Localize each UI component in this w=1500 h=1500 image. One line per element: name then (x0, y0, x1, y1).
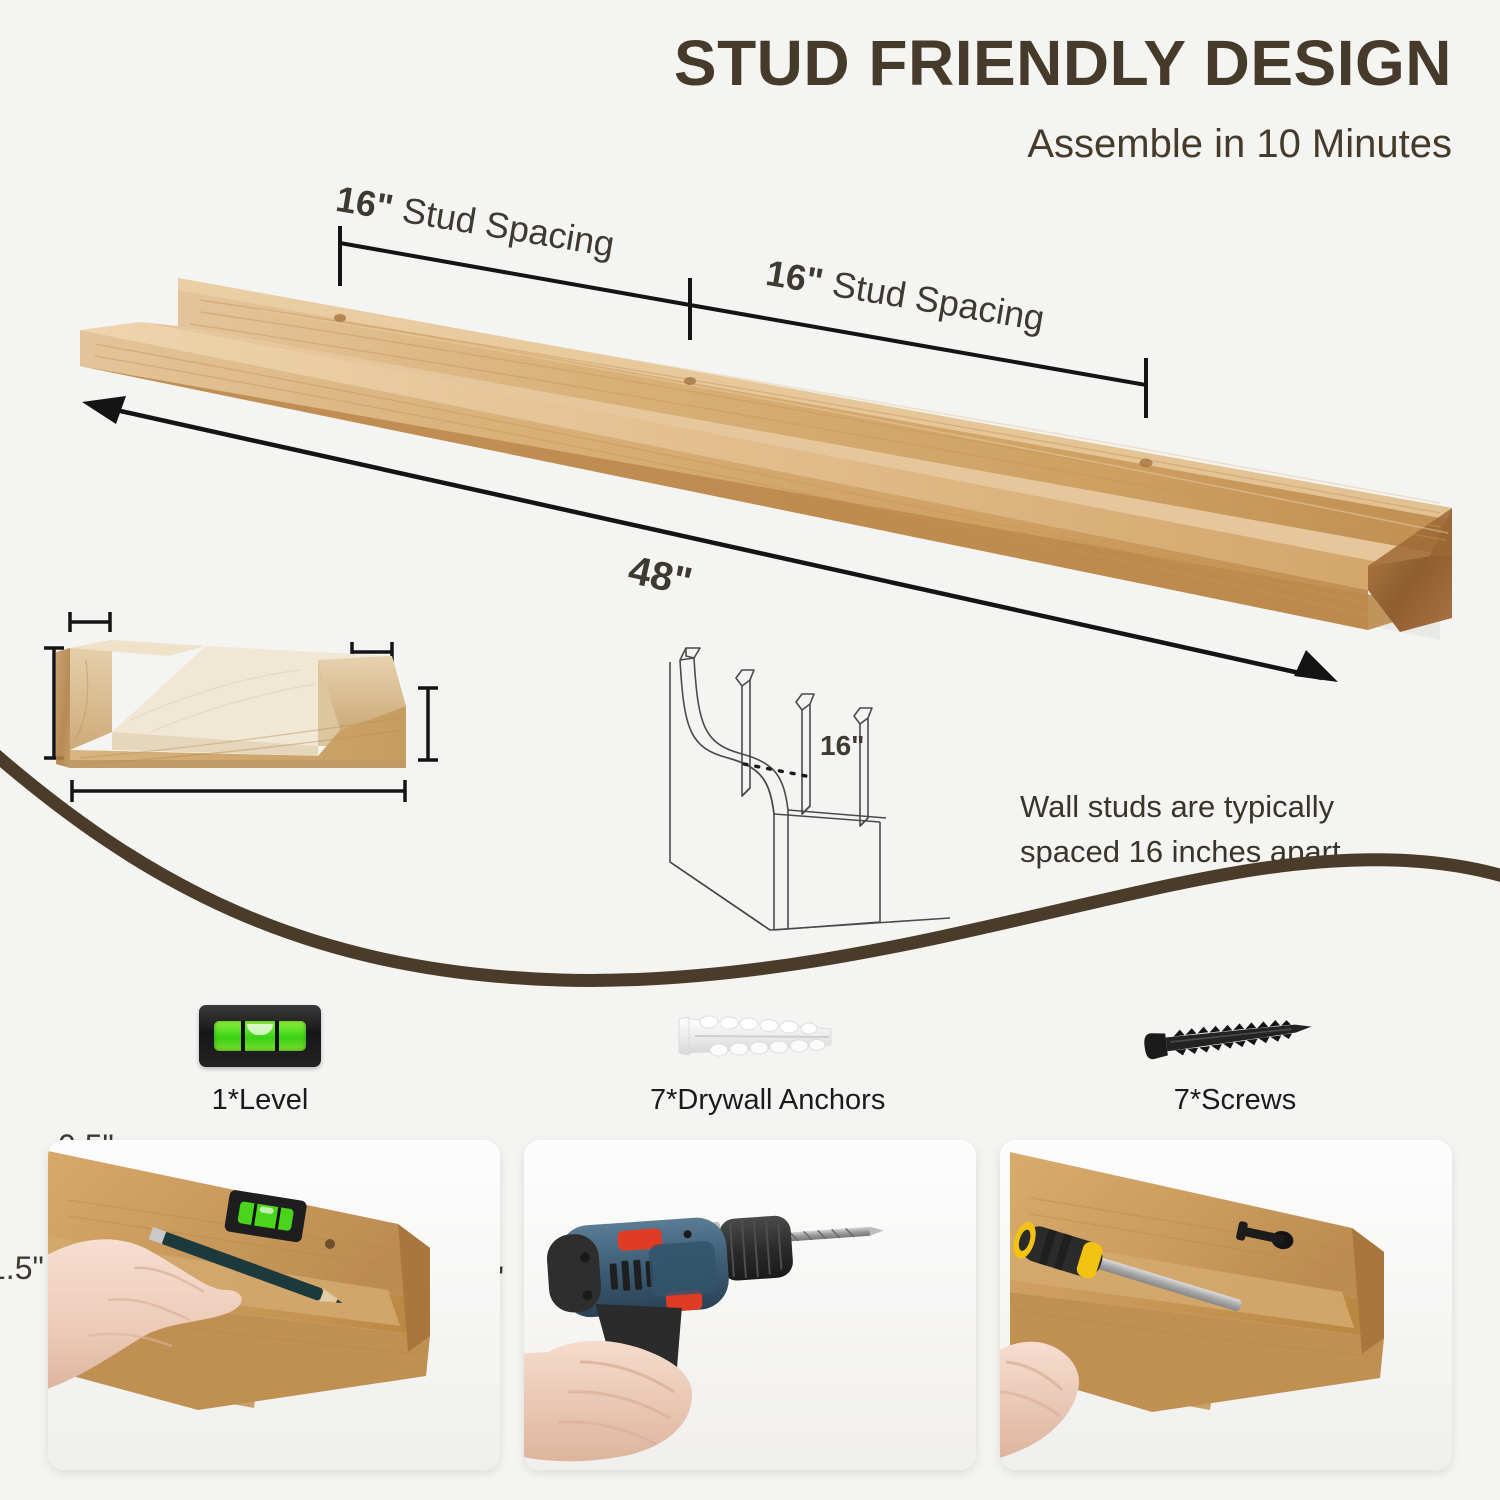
hardware-label-screws: 7*Screws (1140, 1084, 1330, 1117)
screw-icon (1140, 1000, 1330, 1072)
infographic-root: STUD FRIENDLY DESIGN Assemble in 10 Minu… (0, 0, 1500, 1500)
stud-spacing-value-left: 16" (333, 178, 396, 228)
bubble-level-icon (160, 1000, 360, 1072)
stud-spacing-value-right: 16" (763, 252, 826, 302)
photo-card-screw (1000, 1140, 1452, 1470)
step-mark-with-pencil (48, 1140, 500, 1470)
hardware-label-anchors: 7*Drywall Anchors (650, 1084, 870, 1117)
photo-card-drill (524, 1140, 976, 1470)
step-drive-screw (1000, 1140, 1452, 1470)
screw-glyph (1140, 1001, 1330, 1071)
swoosh-curve (0, 740, 1500, 1020)
anchor-glyph (665, 1001, 855, 1071)
hardware-item-level: 1*Level (160, 1000, 360, 1117)
hardware-item-screws: 7*Screws (1140, 1000, 1330, 1117)
hardware-list: 1*Level (0, 1000, 1500, 1125)
step-drill-hole (524, 1140, 976, 1470)
section-divider-swoosh (0, 740, 1500, 1020)
photo-card-mark (48, 1140, 500, 1470)
installation-steps (0, 1140, 1500, 1480)
drywall-anchor-icon (650, 1000, 870, 1072)
hardware-label-level: 1*Level (160, 1084, 360, 1117)
hardware-item-anchors: 7*Drywall Anchors (650, 1000, 870, 1117)
